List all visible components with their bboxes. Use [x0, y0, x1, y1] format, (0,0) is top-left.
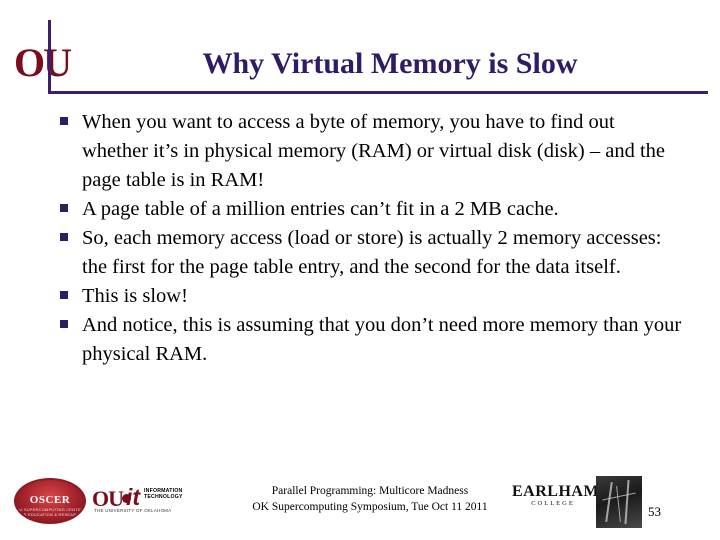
- photo-streak: [602, 492, 635, 500]
- header-horizontal-rule: [48, 91, 708, 94]
- list-item-text: A page table of a million entries can’t …: [82, 195, 684, 224]
- decorative-photo: [596, 476, 642, 528]
- list-item: This is slow!: [54, 282, 684, 311]
- bullet-marker-icon: [54, 195, 82, 224]
- bullet-marker-icon: [54, 282, 82, 311]
- page-title: Why Virtual Memory is Slow: [90, 46, 690, 82]
- ou-it-it-label: it: [126, 484, 140, 511]
- ou-logo-icon: OU: [14, 42, 74, 84]
- bullet-marker-icon: [54, 224, 82, 253]
- photo-streak: [605, 482, 613, 522]
- footer-line-1: Parallel Programming: Multicore Madness: [180, 483, 560, 499]
- earlham-logo-sublabel: COLLEGE: [512, 500, 594, 508]
- oscer-logo-label: OSCER: [16, 494, 84, 506]
- bullet-marker-icon: [54, 108, 82, 137]
- list-item-text: And notice, this is assuming that you do…: [82, 311, 684, 369]
- list-item: When you want to access a byte of memory…: [54, 108, 684, 195]
- oscer-logo-icon: OSCER OU SUPERCOMPUTING CENTER FOR EDUCA…: [14, 478, 86, 524]
- page-number: 53: [648, 504, 678, 520]
- footer-text: Parallel Programming: Multicore Madness …: [180, 483, 560, 515]
- list-item-text: When you want to access a byte of memory…: [82, 108, 684, 195]
- photo-streak: [624, 480, 629, 524]
- bullet-list: When you want to access a byte of memory…: [54, 108, 684, 369]
- photo-streak: [616, 486, 621, 522]
- list-item-text: This is slow!: [82, 282, 684, 311]
- header-vertical-rule: [48, 20, 51, 93]
- earlham-logo-icon: EARLHAM COLLEGE: [512, 483, 594, 509]
- footer-line-2: OK Supercomputing Symposium, Tue Oct 11 …: [180, 499, 560, 515]
- ou-it-university-label: THE UNIVERSITY OF OKLAHOMA: [94, 508, 172, 513]
- earlham-logo-name: EARLHAM: [512, 483, 594, 500]
- list-item: A page table of a million entries can’t …: [54, 195, 684, 224]
- oscer-logo-sublabel: OU SUPERCOMPUTING CENTER FOR EDUCATION &…: [16, 507, 84, 517]
- list-item-text: So, each memory access (load or store) i…: [82, 224, 684, 282]
- bullet-marker-icon: [54, 311, 82, 340]
- list-item: So, each memory access (load or store) i…: [54, 224, 684, 282]
- list-item: And notice, this is assuming that you do…: [54, 311, 684, 369]
- slide-header: OU Why Virtual Memory is Slow: [0, 0, 720, 96]
